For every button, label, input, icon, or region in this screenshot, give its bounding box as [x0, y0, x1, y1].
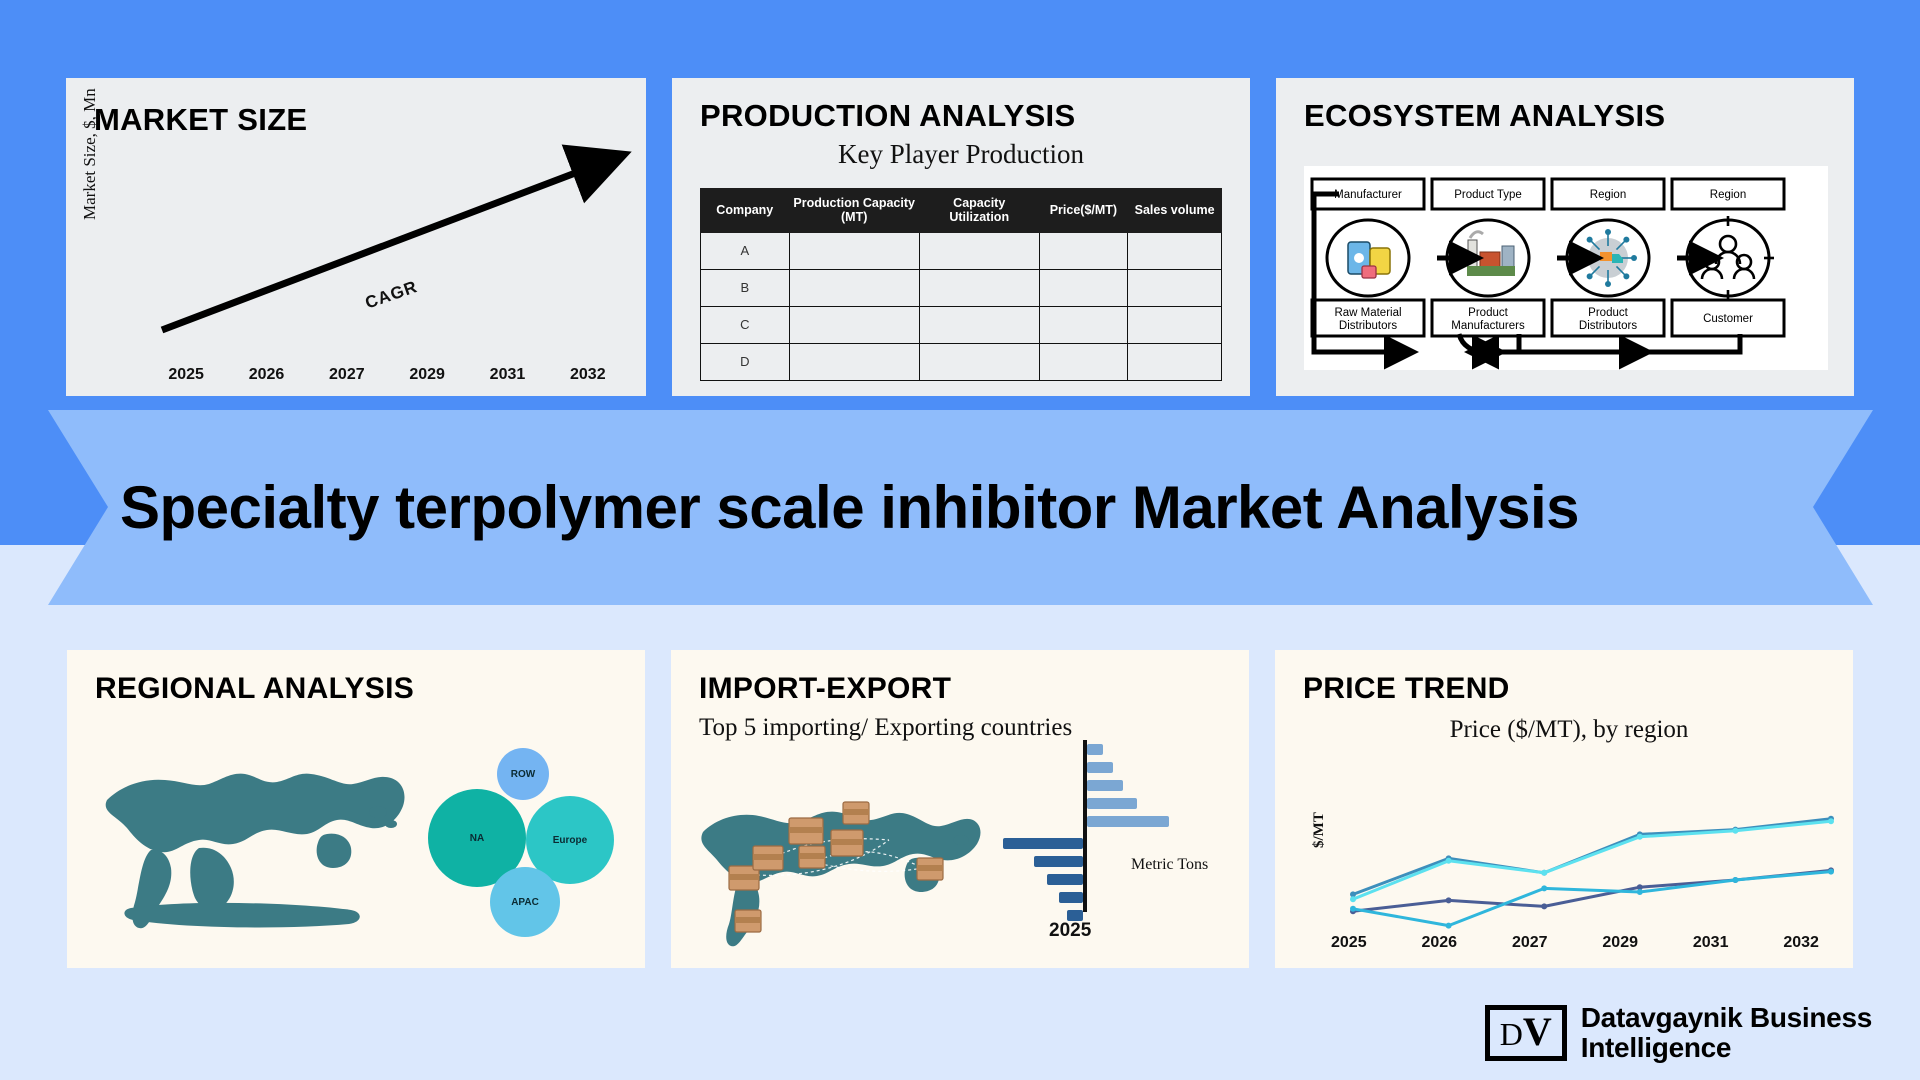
price-point	[1541, 870, 1547, 876]
logo-wordmark: Datavgaynik Business Intelligence	[1581, 1003, 1872, 1062]
column-header-company: Company	[701, 189, 790, 233]
price-trend-year-2027: 2027	[1512, 934, 1548, 952]
cell-capacity	[789, 232, 919, 269]
region-bubble-row: ROW	[497, 748, 549, 800]
production-analysis-title: PRODUCTION ANALYSIS	[672, 78, 1250, 131]
price-point	[1637, 834, 1643, 840]
regional-analysis-title: REGIONAL ANALYSIS	[67, 650, 645, 704]
market-size-title: MARKET SIZE	[66, 78, 646, 135]
logo-letter-v: V	[1523, 1009, 1552, 1054]
panel-production-analysis: PRODUCTION ANALYSIS Key Player Productio…	[672, 78, 1250, 396]
price-line-4	[1353, 872, 1831, 926]
table-row: A	[701, 232, 1222, 269]
import-bar-3	[1087, 780, 1123, 791]
ecosystem-top-2-label: Region	[1590, 189, 1626, 201]
price-point	[1732, 877, 1738, 883]
panel-import-export: IMPORT-EXPORT Top 5 importing/ Exporting…	[671, 650, 1249, 968]
trade-flow-map-icon	[693, 770, 993, 950]
cell-price	[1039, 306, 1128, 343]
cell-sales	[1128, 343, 1222, 380]
price-point	[1828, 869, 1834, 875]
cell-utilization	[919, 232, 1039, 269]
export-bar-1	[1003, 838, 1083, 849]
market-size-bars	[152, 168, 622, 354]
price-trend-year-2032: 2032	[1783, 934, 1819, 952]
cell-sales	[1128, 269, 1222, 306]
price-point	[1350, 896, 1356, 902]
production-analysis-subtitle: Key Player Production	[672, 139, 1250, 170]
import-bar-2	[1087, 762, 1113, 773]
price-line-2	[1353, 821, 1831, 899]
top-panel-row: MARKET SIZE Market Size, $, Mn 202520262…	[0, 78, 1920, 396]
ecosystem-diagram: ManufacturerProduct TypeRegionRegion Raw…	[1304, 166, 1828, 370]
table-row: B	[701, 269, 1222, 306]
import-export-year-label: 2025	[1049, 920, 1091, 942]
cell-price	[1039, 343, 1128, 380]
price-trend-year-2031: 2031	[1693, 934, 1729, 952]
market-size-year-2027: 2027	[313, 366, 381, 384]
ecosystem-top-3-label: Region	[1710, 189, 1746, 201]
cell-capacity	[789, 269, 919, 306]
world-map-icon	[91, 738, 421, 948]
ecosystem-analysis-title: ECOSYSTEM ANALYSIS	[1276, 78, 1854, 131]
cell-utilization	[919, 269, 1039, 306]
import-bar-4	[1087, 798, 1137, 809]
company-logo: DV Datavgaynik Business Intelligence	[1485, 1003, 1872, 1062]
cell-company: B	[701, 269, 790, 306]
column-header-price-mt: Price($/MT)	[1039, 189, 1128, 233]
cell-company: D	[701, 343, 790, 380]
cell-sales	[1128, 306, 1222, 343]
price-point	[1637, 889, 1643, 895]
import-bar-5	[1087, 816, 1169, 827]
market-size-year-2029: 2029	[393, 366, 461, 384]
column-header-production-capacity-mt: Production Capacity (MT)	[789, 189, 919, 233]
cell-company: A	[701, 232, 790, 269]
panel-market-size: MARKET SIZE Market Size, $, Mn 202520262…	[66, 78, 646, 396]
cell-capacity	[789, 306, 919, 343]
ecosystem-top-0-label: Manufacturer	[1334, 189, 1402, 201]
cell-company: C	[701, 306, 790, 343]
market-size-chart: Market Size, $, Mn 202520262027202920312…	[66, 134, 646, 396]
distribution-network-icon	[1579, 229, 1637, 287]
cell-price	[1039, 232, 1128, 269]
export-bar-5	[1067, 910, 1083, 921]
price-trend-year-2025: 2025	[1331, 934, 1367, 952]
main-title-banner: Specialty terpolymer scale inhibitor Mar…	[48, 410, 1873, 605]
cell-sales	[1128, 232, 1222, 269]
market-size-year-2026: 2026	[232, 366, 300, 384]
price-point	[1350, 906, 1356, 912]
cell-price	[1039, 269, 1128, 306]
page-title: Specialty terpolymer scale inhibitor Mar…	[48, 473, 1579, 542]
table-body: ABCD	[701, 232, 1222, 380]
price-trend-subtitle: Price ($/MT), by region	[1345, 714, 1793, 745]
market-size-year-2031: 2031	[473, 366, 541, 384]
market-size-year-2032: 2032	[554, 366, 622, 384]
price-trend-title: PRICE TREND	[1275, 650, 1853, 704]
logo-line-1: Datavgaynik Business	[1581, 1003, 1872, 1032]
price-point	[1732, 828, 1738, 834]
price-point	[1446, 897, 1452, 903]
export-bar-2	[1034, 856, 1083, 867]
cell-utilization	[919, 343, 1039, 380]
table-row: D	[701, 343, 1222, 380]
logo-mark-dv: DV	[1485, 1005, 1567, 1061]
price-point	[1828, 818, 1834, 824]
panel-price-trend: PRICE TREND Price ($/MT), by region $/MT…	[1275, 650, 1853, 968]
key-player-production-table: CompanyProduction Capacity (MT)Capacity …	[700, 188, 1222, 381]
region-bubble-chart: NAEuropeROWAPAC	[427, 730, 627, 940]
table-header-row: CompanyProduction Capacity (MT)Capacity …	[701, 189, 1222, 233]
table-row: C	[701, 306, 1222, 343]
ecosystem-flow-svg: ManufacturerProduct TypeRegionRegion Raw…	[1304, 166, 1828, 370]
metric-tons-label: Metric Tons	[1131, 856, 1208, 874]
price-point	[1541, 903, 1547, 909]
import-bar-1	[1087, 744, 1103, 755]
ecosystem-bottom-0-label: Raw MaterialDistributors	[1334, 307, 1401, 332]
price-line-1	[1353, 819, 1831, 895]
market-size-y-axis-label: Market Size, $, Mn	[80, 88, 100, 220]
price-point	[1446, 858, 1452, 864]
market-size-year-2025: 2025	[152, 366, 220, 384]
logo-line-2: Intelligence	[1581, 1033, 1872, 1062]
cell-capacity	[789, 343, 919, 380]
ecosystem-top-1-label: Product Type	[1454, 189, 1522, 201]
ecosystem-bottom-3-label: Customer	[1703, 313, 1753, 325]
import-export-title: IMPORT-EXPORT	[671, 650, 1249, 704]
market-size-year-labels: 202520262027202920312032	[152, 366, 622, 384]
bottom-panel-row: REGIONAL ANALYSIS NAEuropeROWAPAC IMPORT…	[0, 650, 1920, 968]
price-trend-year-2026: 2026	[1421, 934, 1457, 952]
import-export-tornado-chart: Metric Tons 2025	[1001, 738, 1231, 953]
panel-regional-analysis: REGIONAL ANALYSIS NAEuropeROWAPAC	[67, 650, 645, 968]
price-trend-year-labels: 202520262027202920312032	[1331, 934, 1819, 952]
export-bar-4	[1059, 892, 1083, 903]
logo-letter-d: D	[1500, 1016, 1523, 1052]
price-trend-year-2029: 2029	[1602, 934, 1638, 952]
export-bar-3	[1047, 874, 1083, 885]
cell-utilization	[919, 306, 1039, 343]
drums-icon	[1348, 242, 1390, 278]
price-point	[1541, 885, 1547, 891]
price-point	[1446, 923, 1452, 929]
column-header-capacity-utilization: Capacity Utilization	[919, 189, 1039, 233]
column-header-sales-volume: Sales volume	[1128, 189, 1222, 233]
panel-ecosystem-analysis: ECOSYSTEM ANALYSIS ManufacturerProduct T…	[1276, 78, 1854, 396]
region-bubble-apac: APAC	[490, 867, 560, 937]
